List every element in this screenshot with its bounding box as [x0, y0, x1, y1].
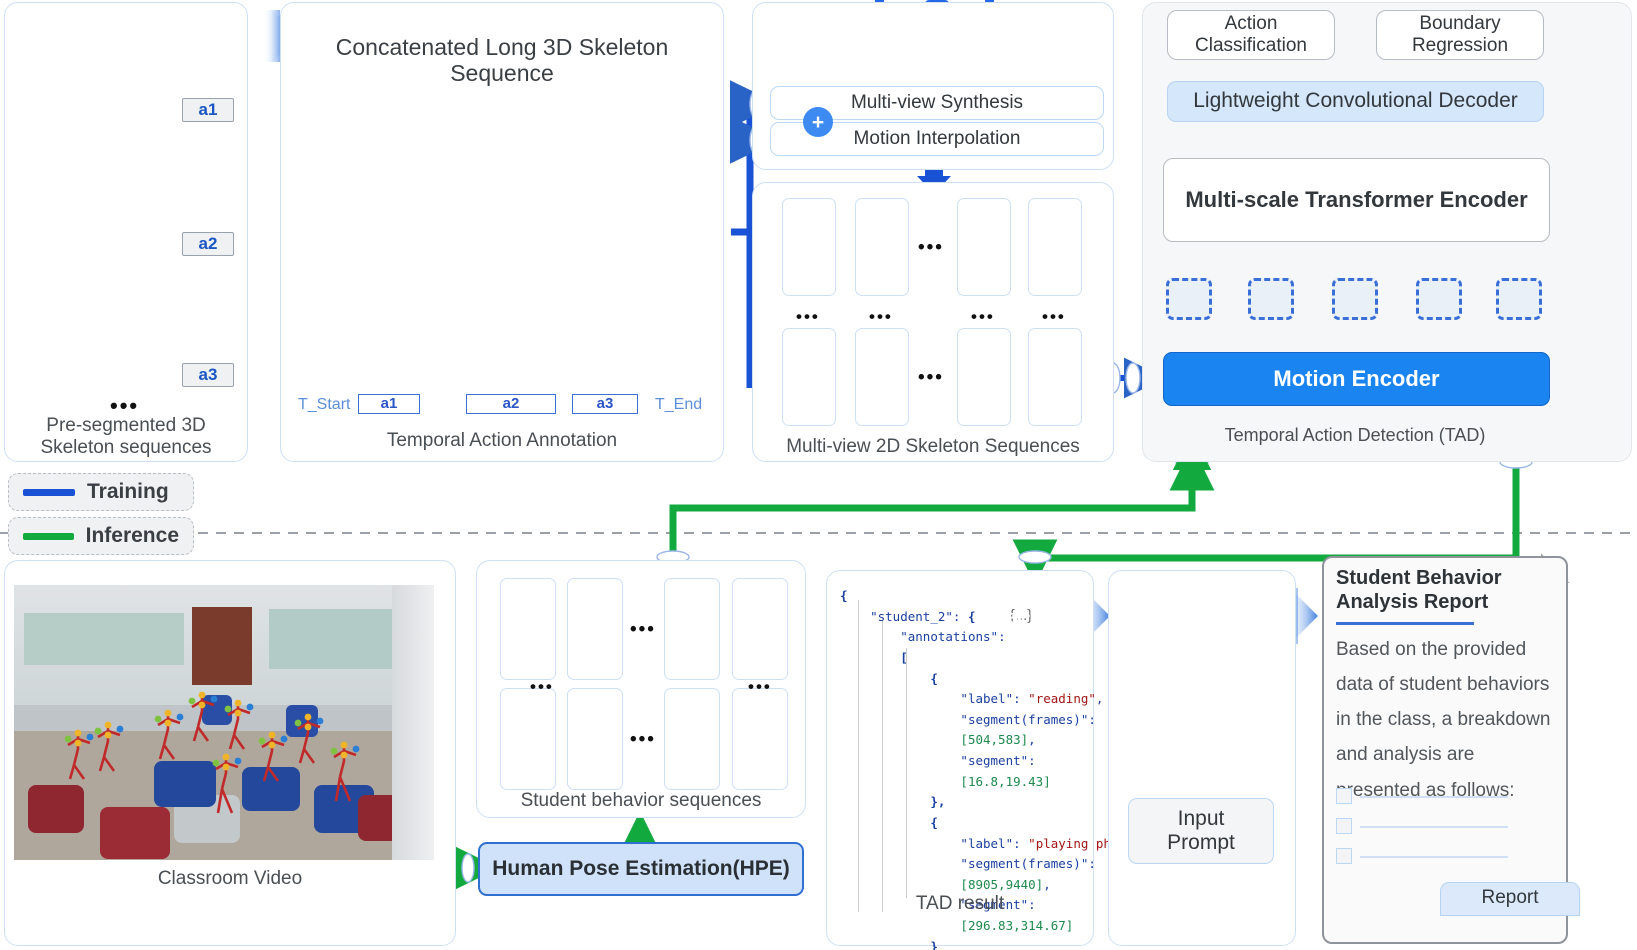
mv2d-row1-ellipsis: •••: [918, 238, 944, 257]
token-square: [1496, 278, 1542, 320]
token-square: [1166, 278, 1212, 320]
input-prompt-box[interactable]: Input Prompt: [1128, 798, 1274, 864]
presegmented-ellipsis: •••: [110, 395, 139, 417]
legend-inference-label: Inference: [86, 524, 179, 548]
behavior-card: [664, 578, 720, 680]
llm-panel: [1108, 570, 1296, 946]
temporal-annotation-caption: Temporal Action Annotation: [290, 430, 714, 452]
multiview-2d-caption: Multi-view 2D Skeleton Sequences: [756, 436, 1110, 458]
report-checkbox[interactable]: [1336, 848, 1352, 864]
legend-inference: Inference: [8, 517, 194, 555]
behavior-card: [567, 578, 623, 680]
segment-tag-a2: a2: [182, 232, 234, 256]
mv2d-col-ellipsis: •••: [796, 308, 820, 325]
report-line: [1360, 826, 1508, 828]
timeline-segment-a1: a1: [358, 394, 420, 414]
tad-caption: Temporal Action Detection (TAD): [1205, 425, 1505, 446]
report-title-underline: [1336, 622, 1474, 625]
behavior-card: [732, 688, 788, 790]
mv2d-card: [855, 198, 909, 296]
mv2d-col-ellipsis: •••: [1042, 308, 1066, 325]
token-square: [1248, 278, 1294, 320]
timeline-segment-a2: a2: [466, 394, 556, 414]
behavior-card: [500, 578, 556, 680]
report-line: [1360, 796, 1508, 798]
concatenated-title: Concatenated Long 3D Skeleton Sequence: [288, 34, 716, 87]
json-badge-label: JSON: [988, 608, 1052, 630]
transformer-encoder-box: Multi-scale Transformer Encoder: [1163, 158, 1550, 242]
mv2d-col-ellipsis: •••: [869, 308, 893, 325]
mv2d-card: [855, 328, 909, 426]
tad-result-caption: TAD result: [830, 893, 1090, 915]
inference-line-swatch: [23, 533, 74, 540]
figure-root: a1 a2 a3 ••• Pre-segmented 3D Skeleton s…: [0, 0, 1637, 950]
report-body-text: Based on the provided data of student be…: [1336, 632, 1560, 808]
behavior-col-ellipsis: •••: [530, 678, 554, 695]
training-line-swatch: [23, 489, 75, 496]
token-square: [1416, 278, 1462, 320]
segment-tag-a1: a1: [182, 98, 234, 122]
timeline-end-label: T_End: [655, 396, 702, 414]
hpe-box[interactable]: Human Pose Estimation(HPE): [478, 842, 804, 896]
mv2d-col-ellipsis: •••: [971, 308, 995, 325]
mv2d-card: [957, 198, 1011, 296]
timeline-segment-a3: a3: [572, 394, 638, 414]
behavior-col-ellipsis: •••: [748, 678, 772, 695]
behavior-row1-ellipsis: •••: [630, 620, 656, 639]
mv2d-card: [782, 198, 836, 296]
mv2d-card: [1028, 198, 1082, 296]
motion-encoder-box: Motion Encoder: [1163, 352, 1550, 406]
behavior-card: [664, 688, 720, 790]
mv2d-card: [782, 328, 836, 426]
report-checkbox[interactable]: [1336, 818, 1352, 834]
mv2d-row2-ellipsis: •••: [918, 368, 944, 387]
mv2d-card: [957, 328, 1011, 426]
legend-training: Training: [8, 473, 194, 511]
report-line: [1360, 856, 1508, 858]
timeline-start-label: T_Start: [298, 396, 350, 414]
boundary-regression-box: Boundary Regression: [1376, 10, 1544, 60]
presegmented-caption: Pre-segmented 3D Skeleton sequences: [8, 415, 244, 459]
segment-tag-a3: a3: [182, 363, 234, 387]
lightweight-decoder-box: Lightweight Convolutional Decoder: [1167, 81, 1544, 122]
report-tab[interactable]: Report: [1440, 882, 1580, 916]
action-classification-box: Action Classification: [1167, 10, 1335, 60]
behavior-card: [732, 578, 788, 680]
plus-icon: +: [803, 107, 833, 137]
behavior-row2-ellipsis: •••: [630, 730, 656, 749]
classroom-video-image: [14, 585, 434, 860]
token-square: [1332, 278, 1378, 320]
report-checkbox[interactable]: [1336, 788, 1352, 804]
student-sequences-caption: Student behavior sequences: [480, 790, 802, 812]
report-title: Student Behavior Analysis Report: [1336, 566, 1516, 614]
legend-training-label: Training: [87, 480, 169, 504]
behavior-card: [500, 688, 556, 790]
mv2d-card: [1028, 328, 1082, 426]
behavior-card: [567, 688, 623, 790]
classroom-video-caption: Classroom Video: [8, 868, 452, 890]
